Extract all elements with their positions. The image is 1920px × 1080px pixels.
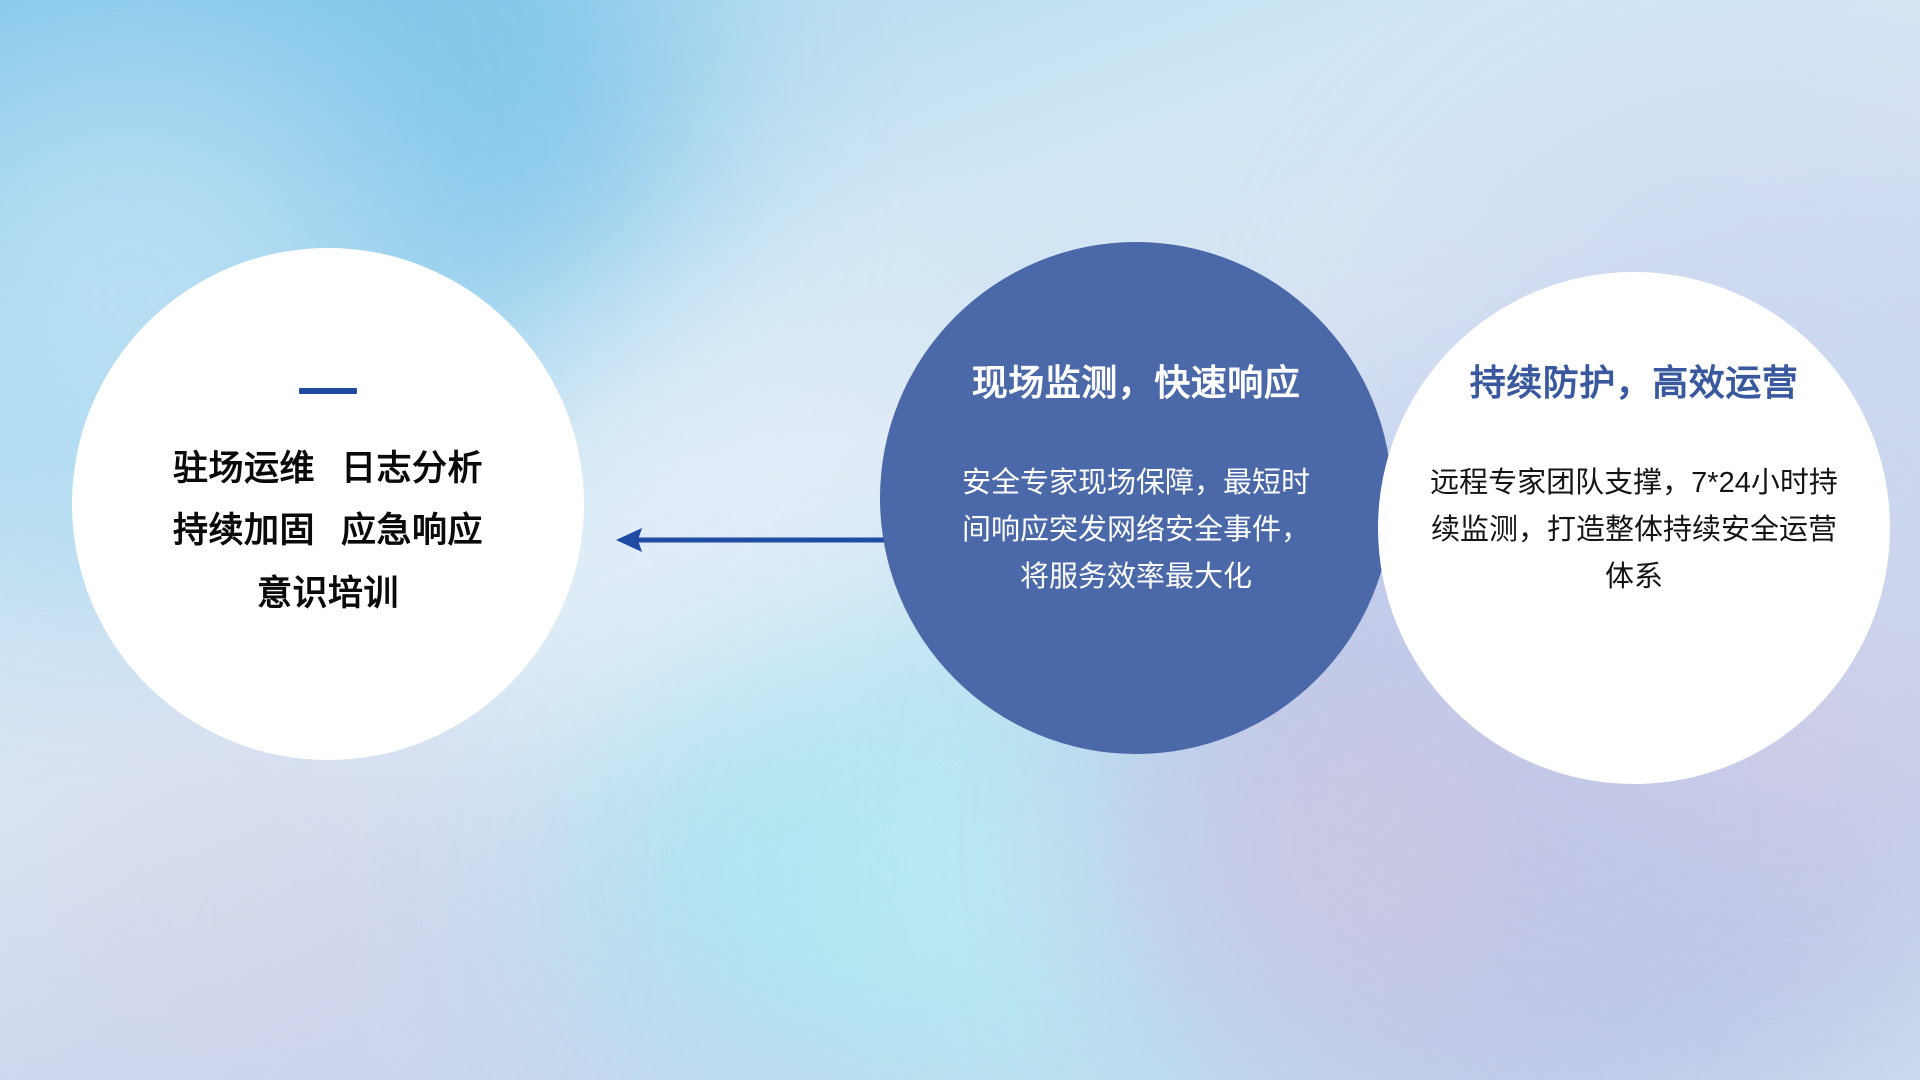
keyword-row-2: 持续加固应急响应 (72, 500, 584, 562)
keyword-chixu-jiagu: 持续加固 (173, 511, 315, 550)
keyword-row-3: 意识培训 (72, 563, 584, 625)
onsite-monitoring-title: 现场监测，快速响应 (972, 354, 1301, 406)
left-keywords-list: 驻场运维日志分析 持续加固应急响应 意识培训 (72, 438, 584, 625)
continuous-protection-circle[interactable]: 持续防护，高效运营 远程专家团队支撑，7*24小时持续监测，打造整体持续安全运营… (1378, 272, 1890, 784)
keyword-row-1: 驻场运维日志分析 (72, 438, 584, 500)
continuous-protection-body: 远程专家团队支撑，7*24小时持续监测，打造整体持续安全运营体系 (1424, 460, 1844, 601)
keyword-rizhi-fenxi: 日志分析 (341, 449, 483, 488)
divider-dash-icon (299, 388, 357, 394)
onsite-monitoring-circle[interactable]: 现场监测，快速响应 安全专家现场保障，最短时间响应突发网络安全事件，将服务效率最… (880, 242, 1392, 754)
onsite-monitoring-body: 安全专家现场保障，最短时间响应突发网络安全事件，将服务效率最大化 (951, 460, 1321, 601)
connector-arrow-left (608, 520, 908, 560)
keyword-zhuchang-yunwei: 驻场运维 (173, 449, 315, 488)
left-keywords-circle[interactable]: 驻场运维日志分析 持续加固应急响应 意识培训 (72, 248, 584, 760)
arrow-left-icon (608, 520, 908, 560)
keyword-yingji-xiangying: 应急响应 (341, 511, 483, 550)
slide-canvas: 驻场运维日志分析 持续加固应急响应 意识培训 现场监测，快速响应 安全专家现场保… (0, 0, 1920, 1080)
continuous-protection-title: 持续防护，高效运营 (1470, 354, 1799, 406)
keyword-yishi-peixun: 意识培训 (257, 574, 399, 613)
